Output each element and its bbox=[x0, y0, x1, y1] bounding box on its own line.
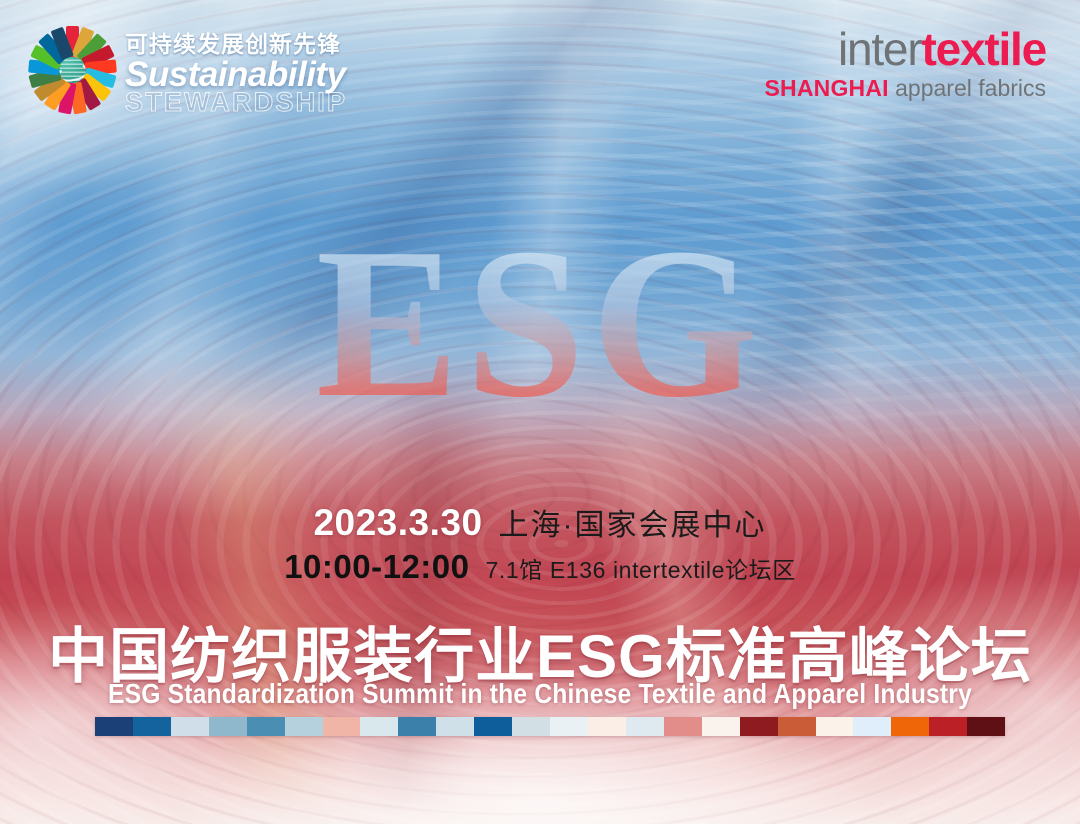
color-swatch bbox=[512, 717, 550, 736]
color-swatch bbox=[360, 717, 398, 736]
color-swatch-bar bbox=[95, 717, 1005, 736]
color-swatch bbox=[929, 717, 967, 736]
color-swatch bbox=[853, 717, 891, 736]
event-date-venue-row: 2023.3.30 上海·国家会展中心 bbox=[313, 500, 766, 544]
color-swatch bbox=[740, 717, 778, 736]
color-swatch bbox=[247, 717, 285, 736]
intertextile-inter-text: inter bbox=[838, 23, 922, 75]
color-swatch bbox=[664, 717, 702, 736]
color-swatch bbox=[171, 717, 209, 736]
color-swatch bbox=[436, 717, 474, 736]
event-details-block: 2023.3.30 上海·国家会展中心 10:00-12:00 7.1馆 E13… bbox=[0, 500, 1080, 586]
intertextile-textile-text: textile bbox=[921, 23, 1046, 75]
color-swatch bbox=[702, 717, 740, 736]
intertextile-wordmark: intertextile bbox=[764, 26, 1046, 72]
event-date: 2023.3.30 bbox=[313, 502, 482, 544]
event-hall-location: 7.1馆 E136 intertextile论坛区 bbox=[486, 551, 796, 585]
color-swatch bbox=[398, 717, 436, 736]
color-swatch bbox=[816, 717, 854, 736]
intertextile-shanghai-text: SHANGHAI bbox=[764, 75, 888, 101]
color-swatch bbox=[626, 717, 664, 736]
sustainability-stewardship-logo: 可持续发展创新先锋 Sustainability STEWARDSHIP bbox=[28, 24, 347, 116]
color-swatch bbox=[550, 717, 588, 736]
sustainability-logo-text: 可持续发展创新先锋 Sustainability STEWARDSHIP bbox=[125, 24, 347, 116]
color-swatch bbox=[95, 717, 133, 736]
color-swatch bbox=[891, 717, 929, 736]
color-swatch bbox=[133, 717, 171, 736]
sdg-color-wheel-icon bbox=[28, 26, 116, 114]
sdg-chinese-tagline: 可持续发展创新先锋 bbox=[125, 25, 347, 59]
color-swatch bbox=[285, 717, 323, 736]
color-swatch bbox=[967, 717, 1005, 736]
color-swatch bbox=[209, 717, 247, 736]
poster-title-english: ESG Standardization Summit in the Chines… bbox=[65, 678, 1015, 710]
intertextile-apparel-fabrics-text: apparel fabrics bbox=[889, 75, 1046, 101]
event-venue: 上海·国家会展中心 bbox=[499, 500, 767, 544]
color-swatch bbox=[588, 717, 626, 736]
stewardship-wordmark: STEWARDSHIP bbox=[125, 89, 347, 116]
esg-summit-poster: ESG 可持续发展创新先锋 Sustainability STEWARDSHIP… bbox=[0, 0, 1080, 824]
intertextile-logo: intertextile SHANGHAI apparel fabrics bbox=[764, 26, 1046, 100]
intertextile-subtitle: SHANGHAI apparel fabrics bbox=[764, 77, 1046, 100]
color-swatch bbox=[474, 717, 512, 736]
color-swatch bbox=[778, 717, 816, 736]
color-swatch bbox=[323, 717, 361, 736]
event-time: 10:00-12:00 bbox=[284, 548, 469, 586]
event-time-hall-row: 10:00-12:00 7.1馆 E136 intertextile论坛区 bbox=[284, 548, 796, 586]
